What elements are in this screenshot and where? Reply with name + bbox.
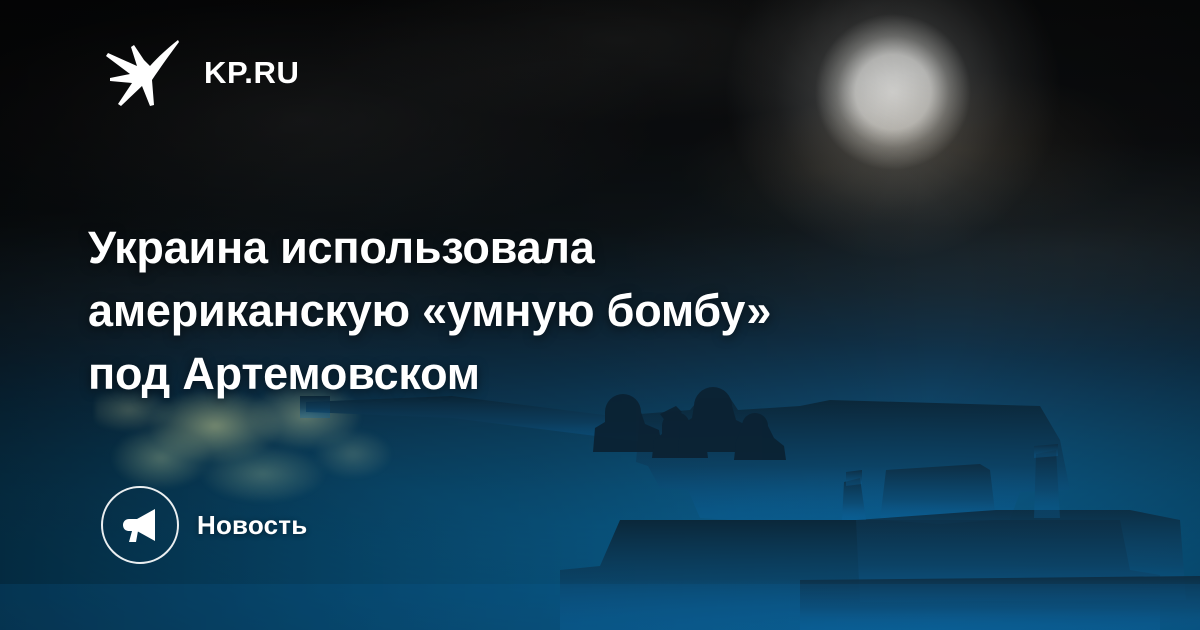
headline-line-2: американскую «умную бомбу» xyxy=(88,279,988,342)
megaphone-icon xyxy=(101,486,179,564)
status-badge-label: Новость xyxy=(197,510,307,541)
news-share-card: KP.RU Украина использовала американскую … xyxy=(0,0,1200,630)
kp-logo-text: KP.RU xyxy=(204,57,299,88)
headline-line-1: Украина использовала xyxy=(88,216,988,279)
kp-logo[interactable]: KP.RU xyxy=(104,36,299,108)
status-badge[interactable]: Новость xyxy=(101,486,307,564)
page-title: Украина использовала американскую «умную… xyxy=(88,216,988,405)
ground-haze xyxy=(0,584,1200,630)
truck-silhouette xyxy=(800,444,1200,630)
swallow-bird-icon xyxy=(104,36,180,108)
self-propelled-gun-silhouette xyxy=(300,396,1160,630)
headline-line-3: под Артемовском xyxy=(88,342,988,405)
